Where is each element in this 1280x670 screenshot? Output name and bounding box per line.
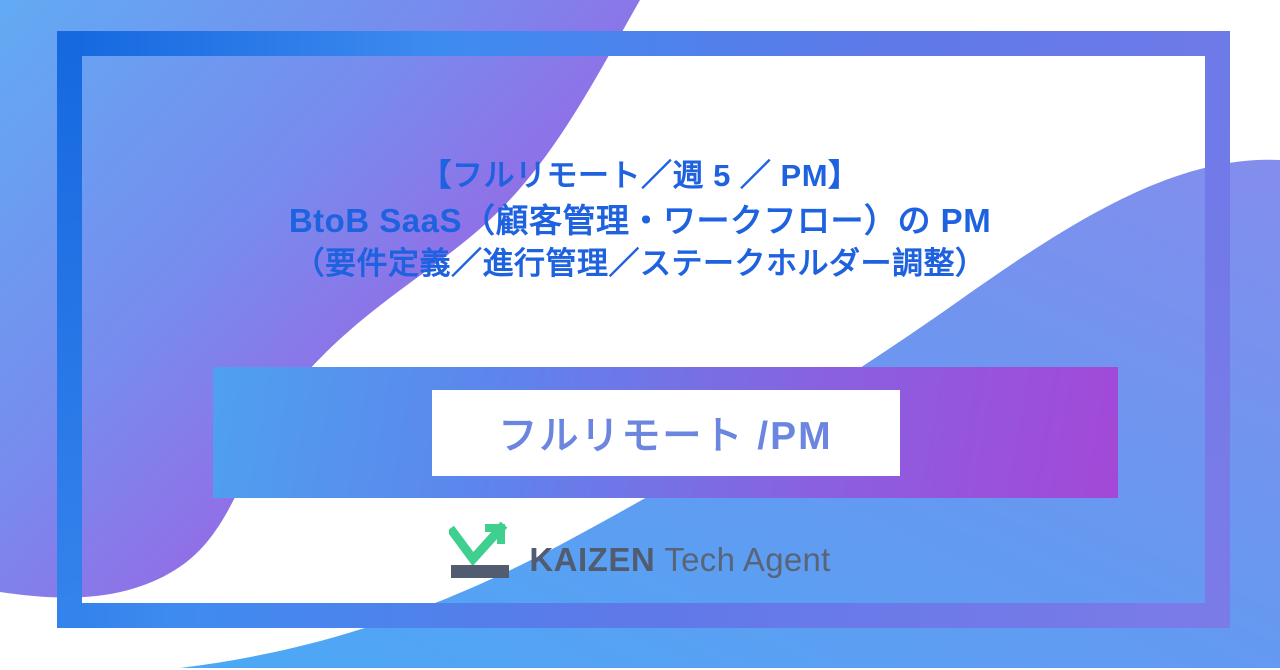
- card-border-frame: [57, 31, 1230, 628]
- ogp-card: 【フルリモート／週 5 ／ PM】 BtoB SaaS（顧客管理・ワークフロー）…: [0, 0, 1280, 670]
